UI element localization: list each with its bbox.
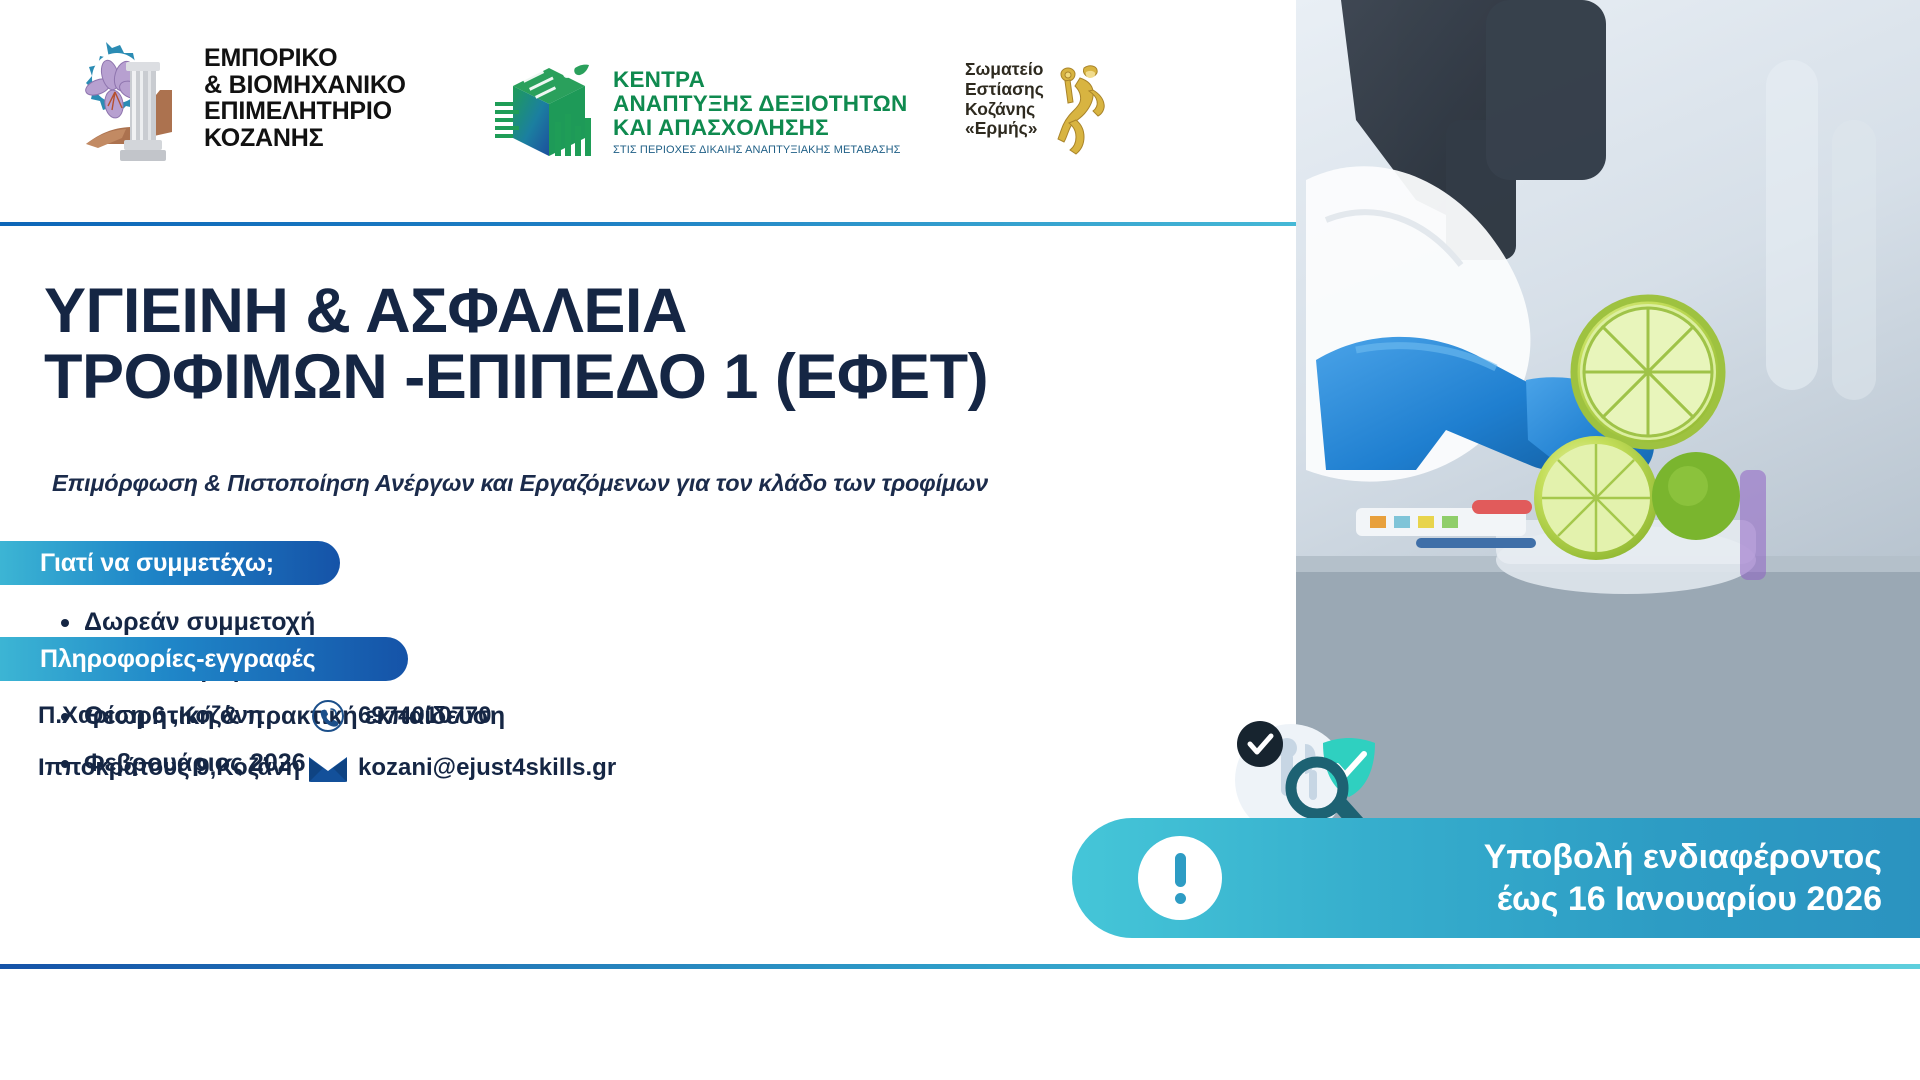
envelope-icon[interactable] [306, 753, 350, 783]
header-divider-rule [0, 222, 1296, 226]
page-title: ΥΓΙΕΙΝΗ & ΑΣΦΑΛΕΙΑ ΤΡΟΦΙΜΩΝ -ΕΠΙΠΕΔΟ 1 (… [44, 278, 1054, 410]
exclamation-icon [1138, 836, 1222, 920]
header-logo-strip: ΕΜΠΟΡΙΚΟ & ΒΙΟΜΗΧΑΝΙΚΟ ΕΠΙΜΕΛΗΤΗΡΙΟ ΚΟΖΑ… [0, 0, 1290, 222]
kentra-logo-text: ΚΕΝΤΡΑ ΑΝΑΠΤΥΞΗΣ ΔΕΞΙΟΤΗΤΩΝ ΚΑΙ ΑΠΑΣΧΟΛΗ… [613, 52, 907, 156]
somateio-line-1: Σωματείο [965, 60, 1044, 80]
kentra-line-3: ΚΑΙ ΑΠΑΣΧΟΛΗΣΗΣ [613, 116, 907, 140]
contact-row-phone: Π.Χαρίση 6 ,Κοζάνη 6974010770 [38, 690, 678, 742]
logo-somateio-ermis: Σωματείο Εστίασης Κοζάνης «Ερμής» [965, 60, 1185, 170]
deadline-text: Υποβολή ενδιαφέροντος έως 16 Ιανουαρίου … [1484, 836, 1882, 921]
somateio-logo-text: Σωματείο Εστίασης Κοζάνης «Ερμής» [965, 60, 1044, 170]
somateio-line-2: Εστίασης [965, 80, 1044, 100]
chamber-line-2: & ΒΙΟΜΗΧΑΝΙΚΟ [204, 72, 406, 99]
poster-root: ΕΜΠΟΡΙΚΟ & ΒΙΟΜΗΧΑΝΙΚΟ ΕΠΙΜΕΛΗΤΗΡΙΟ ΚΟΖΑ… [0, 0, 1920, 1080]
gear-column-crocus-emblem-icon [68, 32, 190, 164]
phone-icon[interactable] [306, 699, 350, 733]
chamber-line-4: ΚΟΖΑΝΗΣ [204, 125, 406, 152]
address-line-2: Ιπποκράτους 9,Κοζάνη [38, 754, 306, 782]
address-line-1: Π.Χαρίση 6 ,Κοζάνη [38, 702, 306, 730]
logo-kentra-anaptyxis: ΚΕΝΤΡΑ ΑΝΑΠΤΥΞΗΣ ΔΕΞΙΟΤΗΤΩΝ ΚΑΙ ΑΠΑΣΧΟΛΗ… [493, 52, 853, 180]
logo-chamber-of-commerce: ΕΜΠΟΡΙΚΟ & ΒΙΟΜΗΧΑΝΙΚΟ ΕΠΙΜΕΛΗΤΗΡΙΟ ΚΟΖΑ… [68, 28, 428, 168]
deadline-line-1: Υποβολή ενδιαφέροντος [1484, 836, 1882, 879]
contact-block: Π.Χαρίση 6 ,Κοζάνη 6974010770 Ιπποκράτου… [38, 690, 678, 794]
banner-information-registration: Πληροφορίες-εγγραφές [0, 637, 408, 681]
footer-strip: Με τη συγχρηματοδότηση της Ευρωπαϊκής Έν… [0, 969, 1920, 1080]
deadline-banner: Υποβολή ενδιαφέροντος έως 16 Ιανουαρίου … [1072, 818, 1920, 938]
somateio-line-3: Κοζάνης [965, 100, 1044, 120]
page-subtitle: Επιμόρφωση & Πιστοποίηση Ανέργων και Εργ… [52, 470, 988, 497]
banner-info-label: Πληροφορίες-εγγραφές [0, 645, 315, 674]
somateio-line-4: «Ερμής» [965, 119, 1044, 139]
list-item: Δωρεάν συμμετοχή [46, 610, 505, 635]
kentra-line-1: ΚΕΝΤΡΑ [613, 68, 907, 92]
green-building-emblem-icon [493, 56, 603, 160]
deadline-line-2: έως 16 Ιανουαρίου 2026 [1484, 878, 1882, 921]
title-line-1: ΥΓΙΕΙΝΗ & ΑΣΦΑΛΕΙΑ [44, 278, 1054, 344]
hermes-figure-icon [1050, 60, 1112, 160]
phone-number[interactable]: 6974010770 [350, 702, 491, 730]
title-line-2: ΤΡΟΦΙΜΩΝ -ΕΠΙΠΕΔΟ 1 (ΕΦΕΤ) [44, 344, 1054, 410]
chamber-line-1: ΕΜΠΟΡΙΚΟ [204, 45, 406, 72]
email-address[interactable]: kozani@ejust4skills.gr [350, 754, 616, 782]
kentra-subtitle: ΣΤΙΣ ΠΕΡΙΟΧΕΣ ΔΙΚΑΙΗΣ ΑΝΑΠΤΥΞΙΑΚΗΣ ΜΕΤΑΒ… [613, 144, 907, 156]
contact-row-email: Ιπποκράτους 9,Κοζάνη kozani@ejust4skills… [38, 742, 678, 794]
banner-why-label: Γιατί να συμμετέχω; [0, 549, 274, 578]
kentra-line-2: ΑΝΑΠΤΥΞΗΣ ΔΕΞΙΟΤΗΤΩΝ [613, 92, 907, 116]
banner-why-participate: Γιατί να συμμετέχω; [0, 541, 340, 585]
chamber-line-3: ΕΠΙΜΕΛΗΤΗΡΙΟ [204, 98, 406, 125]
chamber-logo-text: ΕΜΠΟΡΙΚΟ & ΒΙΟΜΗΧΑΝΙΚΟ ΕΠΙΜΕΛΗΤΗΡΙΟ ΚΟΖΑ… [204, 45, 406, 151]
